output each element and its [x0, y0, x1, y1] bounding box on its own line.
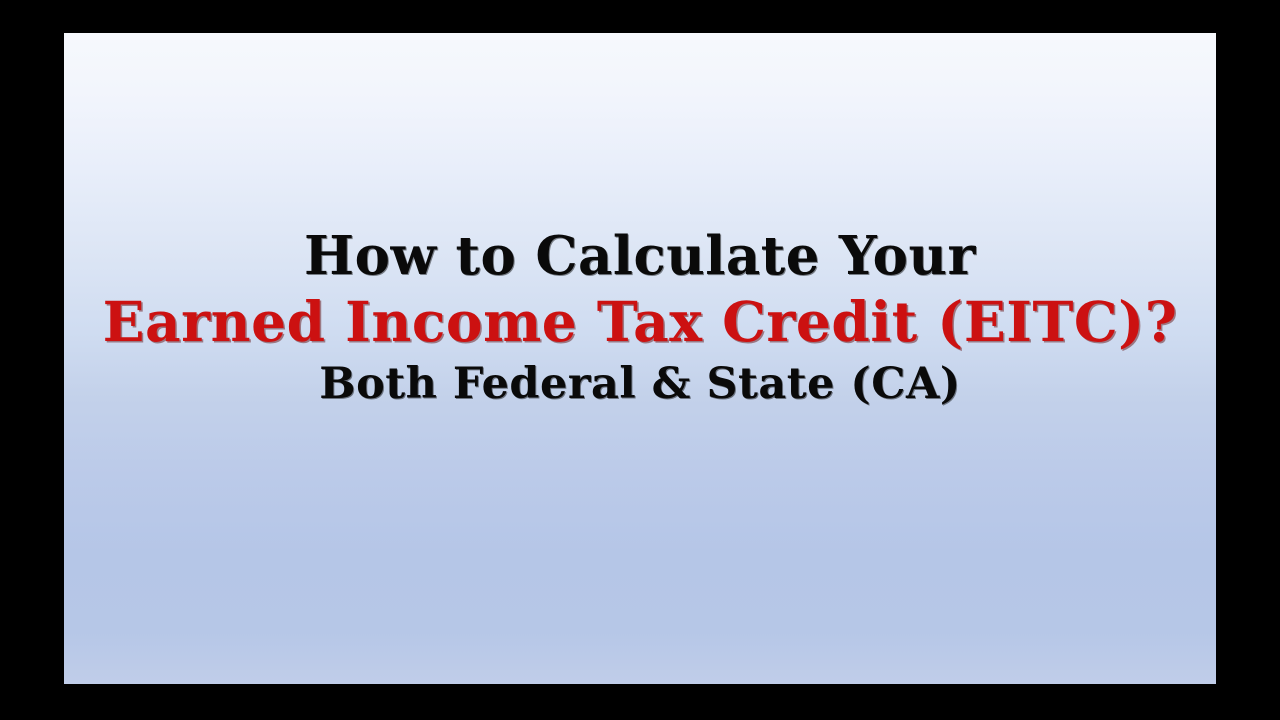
video-letterbox-frame: How to Calculate Your Earned Income Tax … [0, 0, 1280, 720]
title-slide: How to Calculate Your Earned Income Tax … [64, 33, 1216, 684]
title-line-accent: Earned Income Tax Credit (EITC)? [64, 290, 1216, 354]
title-line-subtitle: Both Federal & State (CA) [64, 358, 1216, 410]
title-line-primary: How to Calculate Your [64, 225, 1216, 287]
